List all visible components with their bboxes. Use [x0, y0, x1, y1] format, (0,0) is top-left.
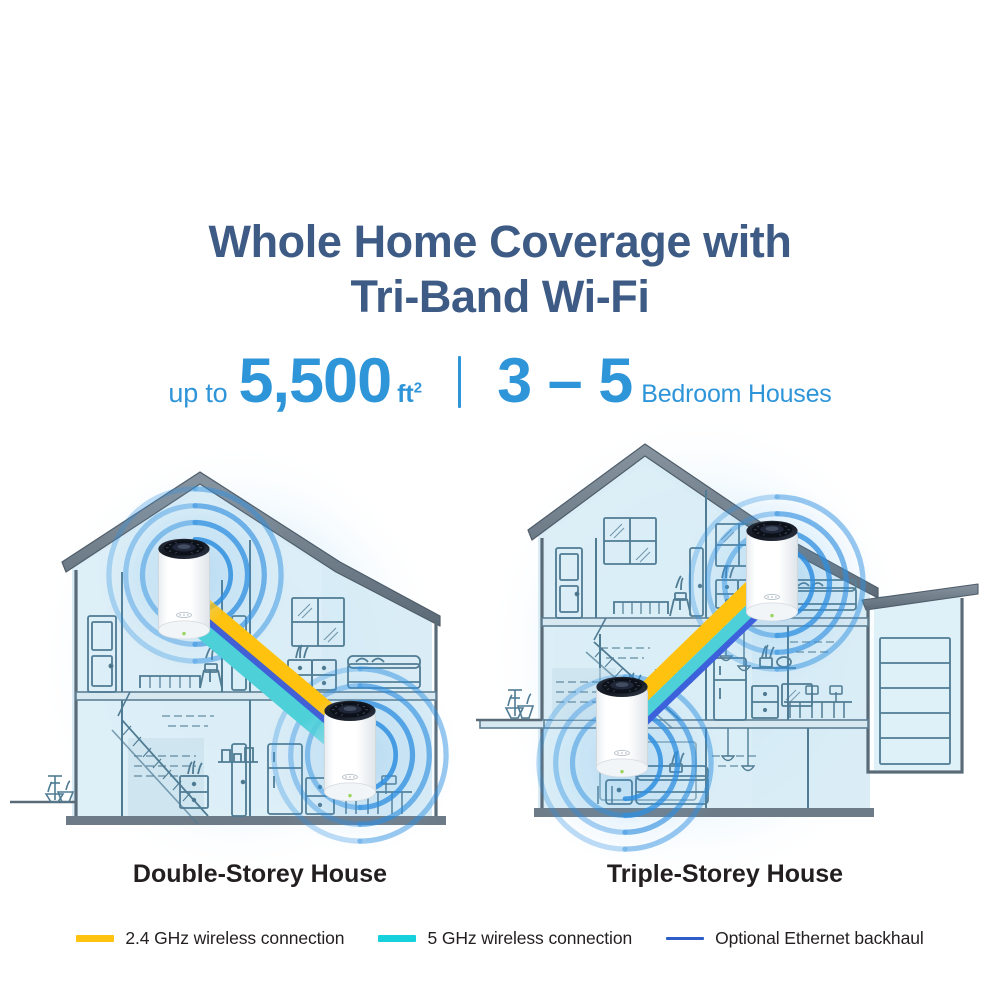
deco-router-upper: [746, 521, 797, 621]
legend-item-5ghz: 5 GHz wireless connection: [378, 928, 632, 949]
stat-area: up to 5,500 ft2: [168, 350, 422, 413]
caption-triple-storey: Triple-Storey House: [530, 860, 920, 889]
headline-line-2: Tri-Band Wi-Fi: [0, 270, 1000, 325]
house-captions: Double-Storey House Triple-Storey House: [0, 860, 1000, 894]
legend-swatch-ethernet-icon: [666, 937, 704, 940]
deco-router-lower: [596, 677, 647, 777]
coverage-stats: up to 5,500 ft2 3 – 5 Bedroom Houses: [0, 350, 1000, 413]
stat-bedrooms-label: Bedroom Houses: [641, 380, 831, 409]
legend-item-ethernet: Optional Ethernet backhaul: [666, 928, 924, 949]
deco-router-lower: [324, 701, 375, 801]
house-illustrations: [0, 420, 1000, 890]
stat-area-value: 5,500: [238, 350, 391, 413]
legend-label-5ghz: 5 GHz wireless connection: [427, 928, 632, 949]
patio-exterior: [10, 776, 76, 802]
page-title: Whole Home Coverage with Tri-Band Wi-Fi: [0, 215, 1000, 325]
headline-line-1: Whole Home Coverage with: [0, 215, 1000, 270]
stats-divider: [458, 356, 461, 408]
legend-swatch-2ghz-icon: [76, 935, 114, 942]
stat-area-prefix: up to: [168, 378, 227, 409]
legend-label-2ghz: 2.4 GHz wireless connection: [125, 928, 344, 949]
legend-label-ethernet: Optional Ethernet backhaul: [715, 928, 924, 949]
stat-bedrooms-value: 3 – 5: [497, 350, 632, 413]
legend-swatch-5ghz-icon: [378, 935, 416, 942]
triple-storey-house: [476, 420, 978, 890]
legend-item-2ghz: 2.4 GHz wireless connection: [76, 928, 344, 949]
stat-area-unit: ft2: [397, 380, 422, 409]
double-storey-house: [10, 440, 460, 880]
deco-router-upper: [158, 539, 209, 639]
stat-bedrooms: 3 – 5 Bedroom Houses: [497, 350, 831, 413]
legend: 2.4 GHz wireless connection 5 GHz wirele…: [0, 928, 1000, 949]
caption-double-storey: Double-Storey House: [60, 860, 460, 889]
promo-page: Whole Home Coverage with Tri-Band Wi-Fi …: [0, 0, 1000, 1000]
